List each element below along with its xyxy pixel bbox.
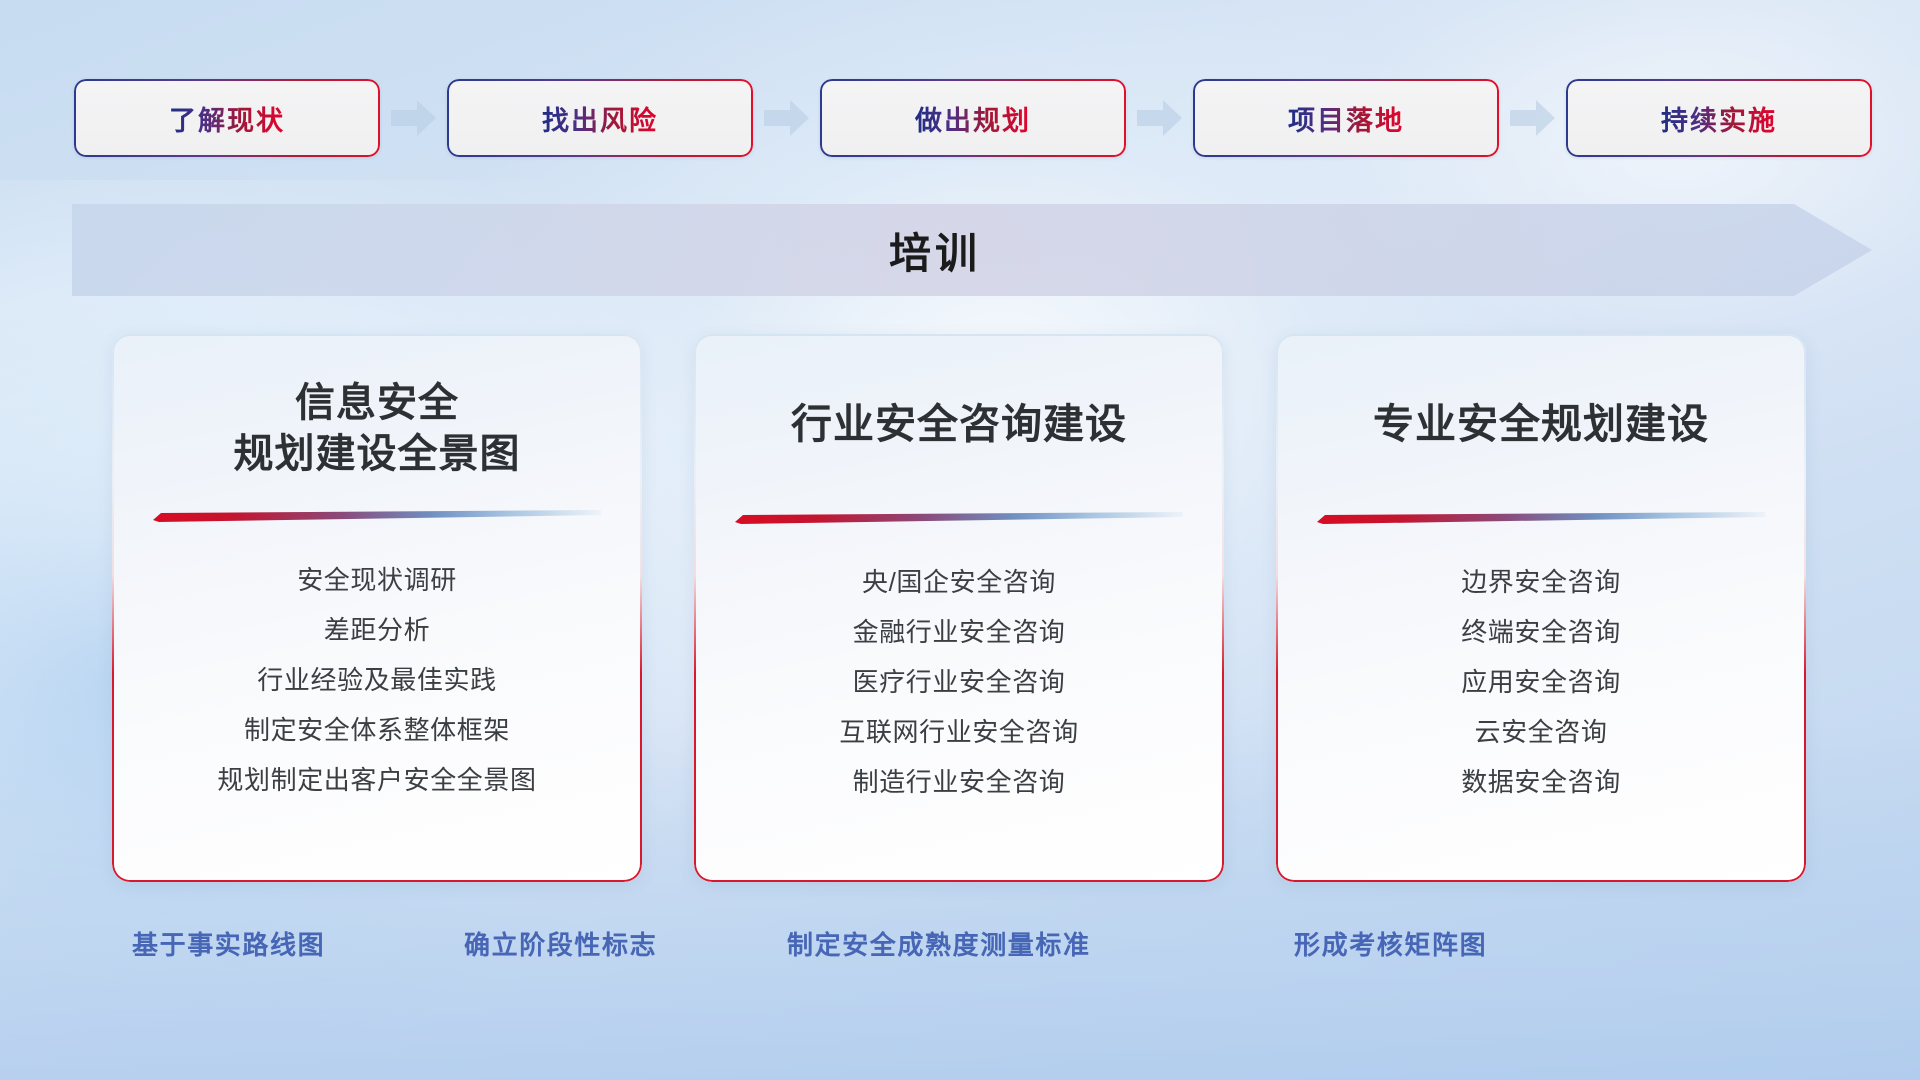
arrow-right-icon (391, 98, 436, 138)
card-divider (1317, 512, 1765, 524)
process-step-4[interactable]: 项目落地 (1193, 79, 1499, 157)
outcome-label: 确立阶段性标志 (464, 925, 657, 962)
list-item: 应用安全咨询 (1461, 666, 1621, 700)
list-item: 数据安全咨询 (1461, 766, 1621, 800)
card-item-list: 边界安全咨询 终端安全咨询 应用安全咨询 云安全咨询 数据安全咨询 (1276, 566, 1806, 799)
list-item: 制定安全体系整体框架 (244, 714, 510, 748)
list-item: 云安全咨询 (1474, 716, 1607, 750)
outcome-label: 制定安全成熟度测量标准 (787, 925, 1091, 962)
banner-title: 培训 (72, 204, 1872, 296)
list-item: 金融行业安全咨询 (853, 616, 1066, 650)
process-step-3[interactable]: 做出规划 (820, 79, 1126, 157)
process-step-1[interactable]: 了解现状 (74, 79, 380, 157)
arrow-right-icon (764, 98, 809, 138)
process-step-label: 做出规划 (915, 99, 1031, 138)
card-title-line: 信息安全 (138, 378, 616, 429)
list-item: 互联网行业安全咨询 (839, 716, 1078, 750)
card-row: 信息安全 规划建设全景图 (0, 334, 1920, 894)
process-step-row: 了解现状 找出风险 做出规划 项目落地 持续实施 (0, 74, 1920, 162)
card-title: 信息安全 规划建设全景图 (112, 378, 642, 480)
list-item: 边界安全咨询 (1461, 566, 1621, 600)
list-item: 医疗行业安全咨询 (853, 666, 1066, 700)
list-item: 差距分析 (324, 614, 430, 648)
process-step-5[interactable]: 持续实施 (1566, 79, 1872, 157)
card-title: 专业安全规划建设 (1276, 398, 1806, 450)
list-item: 终端安全咨询 (1461, 616, 1621, 650)
list-item: 制造行业安全咨询 (853, 766, 1066, 800)
card-item-list: 央/国企安全咨询 金融行业安全咨询 医疗行业安全咨询 互联网行业安全咨询 制造行… (694, 566, 1224, 799)
card-divider (153, 510, 601, 522)
outcome-label-row: 基于事实路线图 确立阶段性标志 制定安全成熟度测量标准 形成考核矩阵图 (0, 925, 1920, 981)
arrow-right-icon (1510, 98, 1555, 138)
service-card[interactable]: 信息安全 规划建设全景图 (112, 334, 642, 882)
arrow-right-icon (1137, 98, 1182, 138)
process-step-label: 找出风险 (542, 99, 658, 138)
card-title-line: 规划建设全景图 (138, 429, 616, 480)
process-step-label: 持续实施 (1661, 99, 1777, 138)
outcome-label: 基于事实路线图 (132, 925, 325, 962)
card-title-line: 行业安全咨询建设 (720, 398, 1198, 450)
card-title: 行业安全咨询建设 (694, 398, 1224, 450)
list-item: 行业经验及最佳实践 (257, 664, 496, 698)
card-title-line: 专业安全规划建设 (1302, 398, 1780, 450)
service-card[interactable]: 专业安全规划建设 (1276, 334, 1806, 882)
process-step-2[interactable]: 找出风险 (447, 79, 753, 157)
list-item: 央/国企安全咨询 (862, 566, 1056, 600)
card-divider (735, 512, 1183, 524)
list-item: 规划制定出客户安全全景图 (217, 764, 536, 798)
process-step-label: 项目落地 (1288, 99, 1404, 138)
process-step-label: 了解现状 (169, 99, 285, 138)
training-banner: 培训 (72, 204, 1872, 296)
card-item-list: 安全现状调研 差距分析 行业经验及最佳实践 制定安全体系整体框架 规划制定出客户… (112, 564, 642, 797)
outcome-label: 形成考核矩阵图 (1294, 925, 1487, 962)
list-item: 安全现状调研 (297, 564, 457, 598)
service-card[interactable]: 行业安全咨询建设 (694, 334, 1224, 882)
